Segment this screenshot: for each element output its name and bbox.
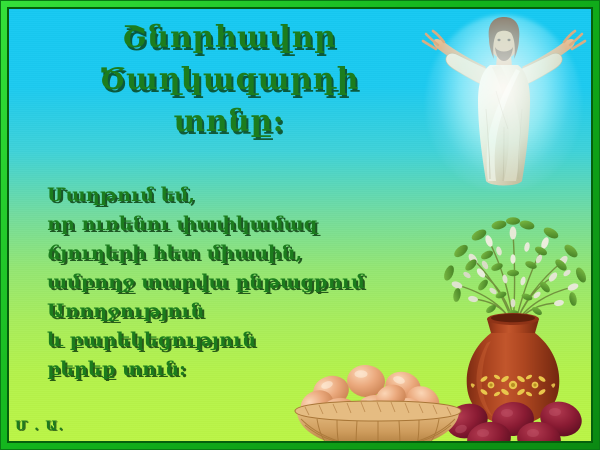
card-canvas: Շնորհավոր Ծաղկազարդի տոնը: Մաղթում եմ, ո…	[9, 9, 591, 441]
jesus-halo	[426, 15, 581, 190]
headline-line-2: Ծաղկազարդի	[39, 59, 419, 101]
jesus-figure	[404, 9, 591, 199]
body-line-2: որ ուռենու փափկամազ	[47, 210, 365, 239]
body-line-1: Մաղթում եմ,	[47, 181, 365, 210]
body-line-5: Առողջություն	[47, 297, 365, 326]
body-line-4: ամբողջ տարվա ընթացքում	[47, 268, 365, 297]
body-line-6: և բարեկեցություն	[47, 326, 365, 355]
headline-line-1: Շնորհավոր	[39, 17, 419, 59]
signature: Մ . Ա.	[15, 419, 64, 434]
headline: Շնորհավոր Ծաղկազարդի տոնը:	[39, 17, 419, 143]
body-text: Մաղթում եմ, որ ուռենու փափկամազ ճյուղերի…	[47, 181, 365, 384]
greeting-card: Շնորհավոր Ծաղկազարդի տոնը: Մաղթում եմ, ո…	[0, 0, 600, 450]
body-line-3: ճյուղերի հետ միասին,	[47, 239, 365, 268]
headline-line-3: տոնը:	[39, 101, 419, 143]
body-line-7: բերեք տուն:	[47, 355, 365, 384]
